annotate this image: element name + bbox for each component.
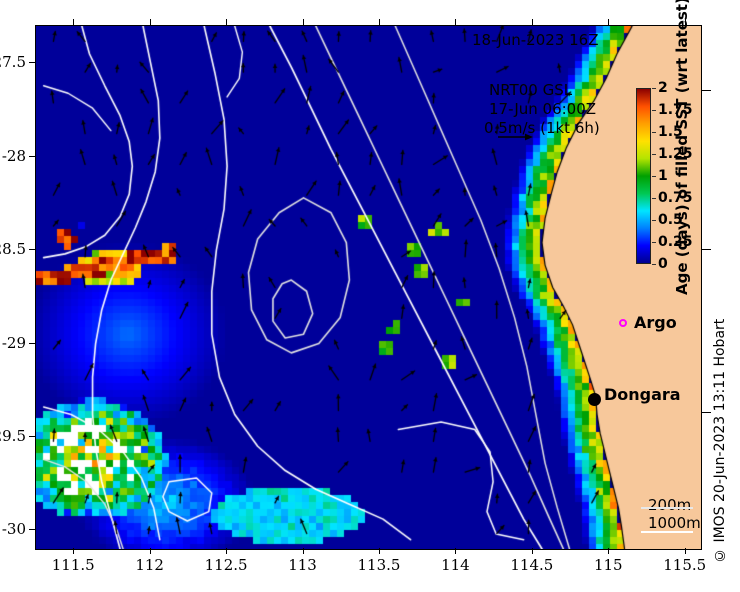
right-edge-tick [702,90,711,91]
y-tick-label: -28 [2,147,26,165]
dongara-marker-icon [588,393,601,406]
x-tick-label: 114.5 [510,556,553,574]
y-tick [29,249,35,250]
y-tick [29,436,35,437]
x-tick-top [608,19,609,25]
y-tick-label: -27.5 [0,53,26,71]
colorbar-tick [652,88,656,89]
x-tick [226,548,227,554]
colorbar-tick-label: 1 [658,168,668,184]
sst-age-map-figure: 18-Jun-2023 16Z NRT00 GSL 17-Jun 06:00Z … [0,0,740,592]
y-tick-label: -30 [2,520,26,538]
copyright-notice: © IMOS 20-Jun-2023 13:11 Hobart [712,333,732,563]
argo-marker-icon [619,319,627,327]
argo-legend-label: Argo [634,313,677,332]
colorbar-tick [652,198,656,199]
depth-contour-200m-line [641,507,693,509]
x-tick-label: 113 [288,556,317,574]
x-tick-label: 115.5 [663,556,706,574]
x-tick [379,548,380,554]
x-tick-label: 115 [594,556,623,574]
colorbar-title: Age (days) of filled SST (wrt latest) [670,30,694,295]
x-tick-top [455,19,456,25]
colorbar-tick-label: 0 [658,256,668,272]
y-tick-label: -29 [2,334,26,352]
colorbar [636,88,651,264]
y-tick-label: -29.5 [0,427,26,445]
y-tick [29,156,35,157]
colorbar-tick [652,132,656,133]
y-tick [29,529,35,530]
x-tick-top [685,19,686,25]
y-tick-label: -28.5 [0,240,26,258]
depth-contour-200m-label: 200m [648,496,691,514]
x-tick [303,548,304,554]
map-plot-area[interactable] [35,25,702,550]
x-tick-top [303,19,304,25]
current-vector-key-arrow-icon [497,131,533,143]
x-tick-top [379,19,380,25]
x-tick-label: 113.5 [357,556,400,574]
y-tick [29,62,35,63]
colorbar-tick [652,242,656,243]
x-tick-label: 112.5 [205,556,248,574]
colorbar-tick [652,176,656,177]
depth-contour-1000m-label: 1000m [648,514,701,532]
colorbar-tick [652,154,656,155]
timestamp-annotation: 18-Jun-2023 16Z [472,31,599,49]
x-tick [685,548,686,554]
x-tick [455,548,456,554]
colorbar-tick-label: 2 [658,80,668,96]
x-tick [73,548,74,554]
right-edge-tick [702,249,711,250]
colorbar-gradient [637,89,650,263]
x-tick-top [532,19,533,25]
current-source-line2: 17-Jun 06:00Z [489,100,596,118]
x-tick-top [73,19,74,25]
x-tick [150,548,151,554]
colorbar-tick [652,110,656,111]
x-tick [532,548,533,554]
colorbar-tick [652,264,656,265]
x-tick-top [226,19,227,25]
x-tick [608,548,609,554]
right-edge-tick [702,412,711,413]
dongara-city-label: Dongara [604,385,681,404]
y-tick [29,343,35,344]
x-tick-label: 114 [441,556,470,574]
contours-and-current-vectors [36,26,701,549]
x-tick-label: 111.5 [52,556,95,574]
depth-contour-1000m-line [641,531,693,533]
current-source-line1: NRT00 GSL [489,81,572,99]
colorbar-tick [652,220,656,221]
x-tick-top [150,19,151,25]
x-tick-label: 112 [135,556,164,574]
